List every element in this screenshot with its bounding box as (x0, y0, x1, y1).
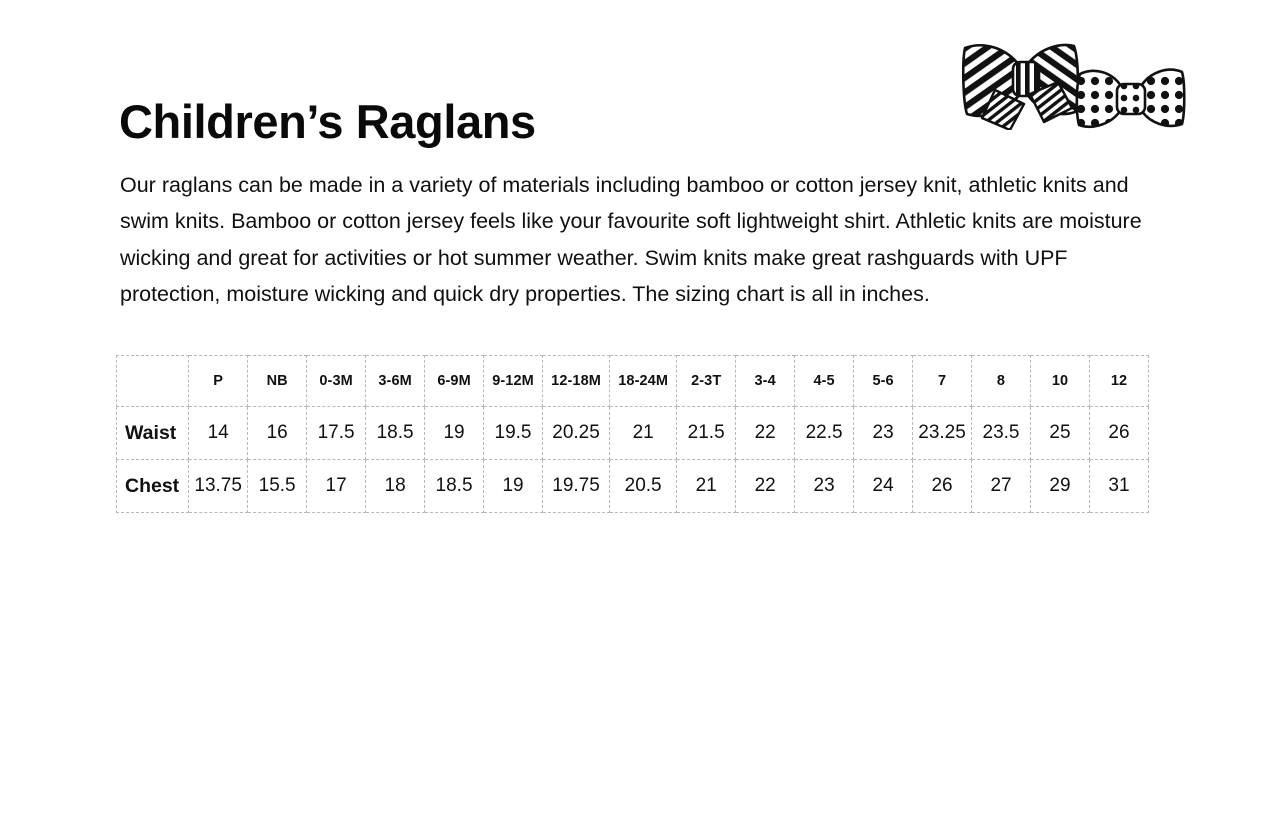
table-cell: 23.5 (972, 407, 1031, 460)
page-title: Children’s Raglans (119, 97, 536, 148)
table-header-cell: 0-3M (307, 356, 366, 407)
sizing-chart: PNB0-3M3-6M6-9M9-12M12-18M18-24M2-3T3-44… (116, 355, 1149, 513)
table-cell: 25 (1031, 407, 1090, 460)
table-cell: 16 (248, 407, 307, 460)
table-cell: 20.5 (610, 460, 677, 513)
table-header-row: PNB0-3M3-6M6-9M9-12M12-18M18-24M2-3T3-44… (117, 356, 1149, 407)
table-header-cell: 10 (1031, 356, 1090, 407)
table-cell: 18.5 (366, 407, 425, 460)
table-header-cell: 12-18M (543, 356, 610, 407)
table-cell: 17 (307, 460, 366, 513)
table-row: Waist141617.518.51919.520.252121.52222.5… (117, 407, 1149, 460)
table-cell: 14 (189, 407, 248, 460)
table-row: Chest13.7515.5171818.51919.7520.52122232… (117, 460, 1149, 513)
table-header-cell: 3-6M (366, 356, 425, 407)
table-header-cell: 9-12M (484, 356, 543, 407)
table-header-cell: 3-4 (736, 356, 795, 407)
table-header-cell: 8 (972, 356, 1031, 407)
table-cell: 18.5 (425, 460, 484, 513)
table-cell: 21.5 (677, 407, 736, 460)
table-corner-cell (117, 356, 189, 407)
table-row-label: Chest (117, 460, 189, 513)
table-cell: 24 (854, 460, 913, 513)
table-cell: 23 (854, 407, 913, 460)
table-cell: 21 (677, 460, 736, 513)
table-header-cell: P (189, 356, 248, 407)
table-cell: 22 (736, 407, 795, 460)
striped-bow-tie-left (963, 45, 1078, 130)
table-cell: 18 (366, 460, 425, 513)
table-cell: 29 (1031, 460, 1090, 513)
table-row-label: Waist (117, 407, 189, 460)
table-cell: 17.5 (307, 407, 366, 460)
table-header-cell: 12 (1089, 356, 1148, 407)
table-header-cell: 5-6 (854, 356, 913, 407)
table-cell: 19.75 (543, 460, 610, 513)
table-cell: 22 (736, 460, 795, 513)
size-table: PNB0-3M3-6M6-9M9-12M12-18M18-24M2-3T3-44… (116, 355, 1149, 513)
table-header-cell: 6-9M (425, 356, 484, 407)
table-cell: 27 (972, 460, 1031, 513)
table-cell: 20.25 (543, 407, 610, 460)
table-cell: 13.75 (189, 460, 248, 513)
table-cell: 21 (610, 407, 677, 460)
table-header-cell: 18-24M (610, 356, 677, 407)
table-cell: 19 (484, 460, 543, 513)
table-cell: 26 (1089, 407, 1148, 460)
table-cell: 26 (913, 460, 972, 513)
table-cell: 22.5 (795, 407, 854, 460)
intro-paragraph: Our raglans can be made in a variety of … (120, 167, 1162, 313)
table-header-cell: 2-3T (677, 356, 736, 407)
table-header-cell: NB (248, 356, 307, 407)
table-header-cell: 7 (913, 356, 972, 407)
table-cell: 15.5 (248, 460, 307, 513)
table-cell: 23 (795, 460, 854, 513)
bow-tie-logo (962, 32, 1186, 130)
table-cell: 23.25 (913, 407, 972, 460)
table-header-cell: 4-5 (795, 356, 854, 407)
table-cell: 19.5 (484, 407, 543, 460)
table-cell: 31 (1089, 460, 1148, 513)
table-cell: 19 (425, 407, 484, 460)
polka-dot-bow-tie-right (1077, 70, 1184, 127)
